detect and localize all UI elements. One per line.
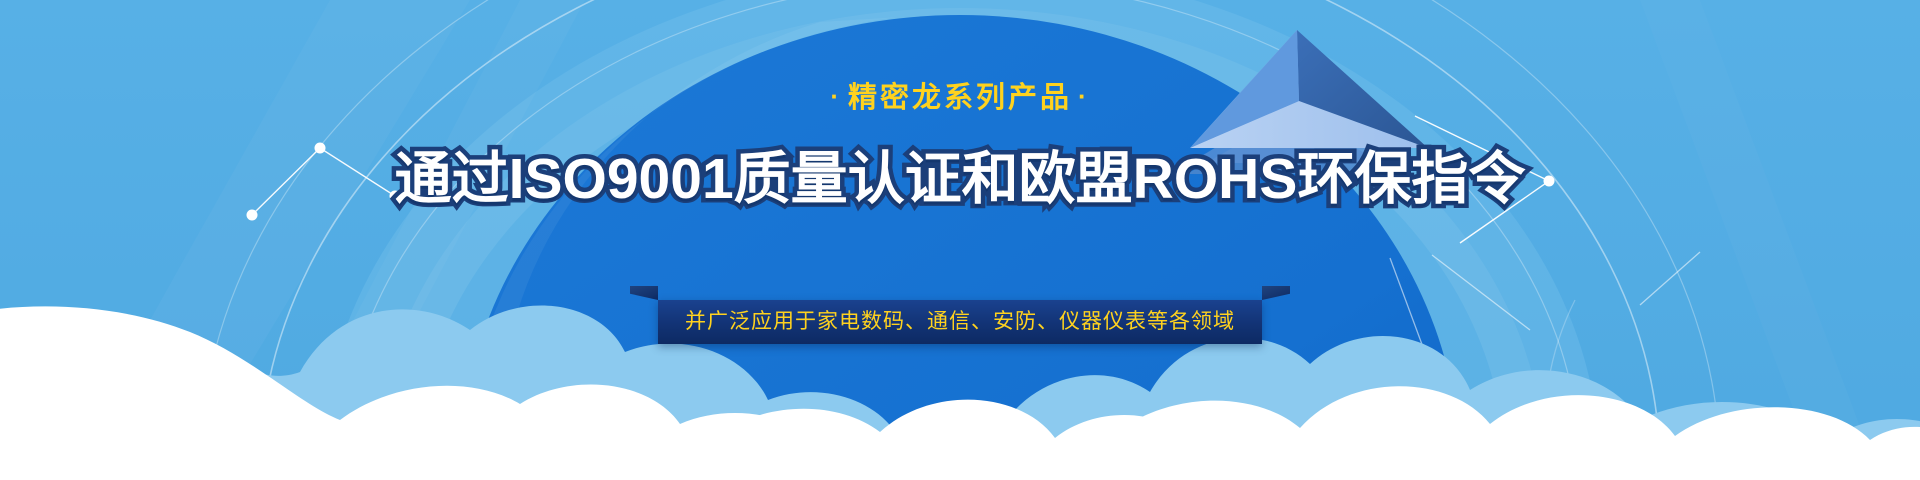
subtitle-ribbon: 并广泛应用于家电数码、通信、安防、仪器仪表等各领域 bbox=[658, 286, 1262, 344]
kicker-dot-left: · bbox=[824, 81, 848, 111]
ribbon-text: 并广泛应用于家电数码、通信、安防、仪器仪表等各领域 bbox=[658, 300, 1262, 344]
kicker-line: ·精密龙系列产品· bbox=[0, 76, 1920, 118]
ribbon-body: 并广泛应用于家电数码、通信、安防、仪器仪表等各领域 bbox=[658, 300, 1262, 344]
ribbon-tail-left bbox=[630, 286, 658, 300]
kicker-dot-right: · bbox=[1072, 81, 1096, 111]
ribbon-tail-right bbox=[1262, 286, 1290, 300]
promo-banner: ·精密龙系列产品· 通过ISO9001质量认证和欧盟ROHS环保指令 并广泛应用… bbox=[0, 0, 1920, 480]
headline: 通过ISO9001质量认证和欧盟ROHS环保指令 bbox=[0, 143, 1920, 215]
kicker-text: 精密龙系列产品 bbox=[848, 82, 1072, 114]
